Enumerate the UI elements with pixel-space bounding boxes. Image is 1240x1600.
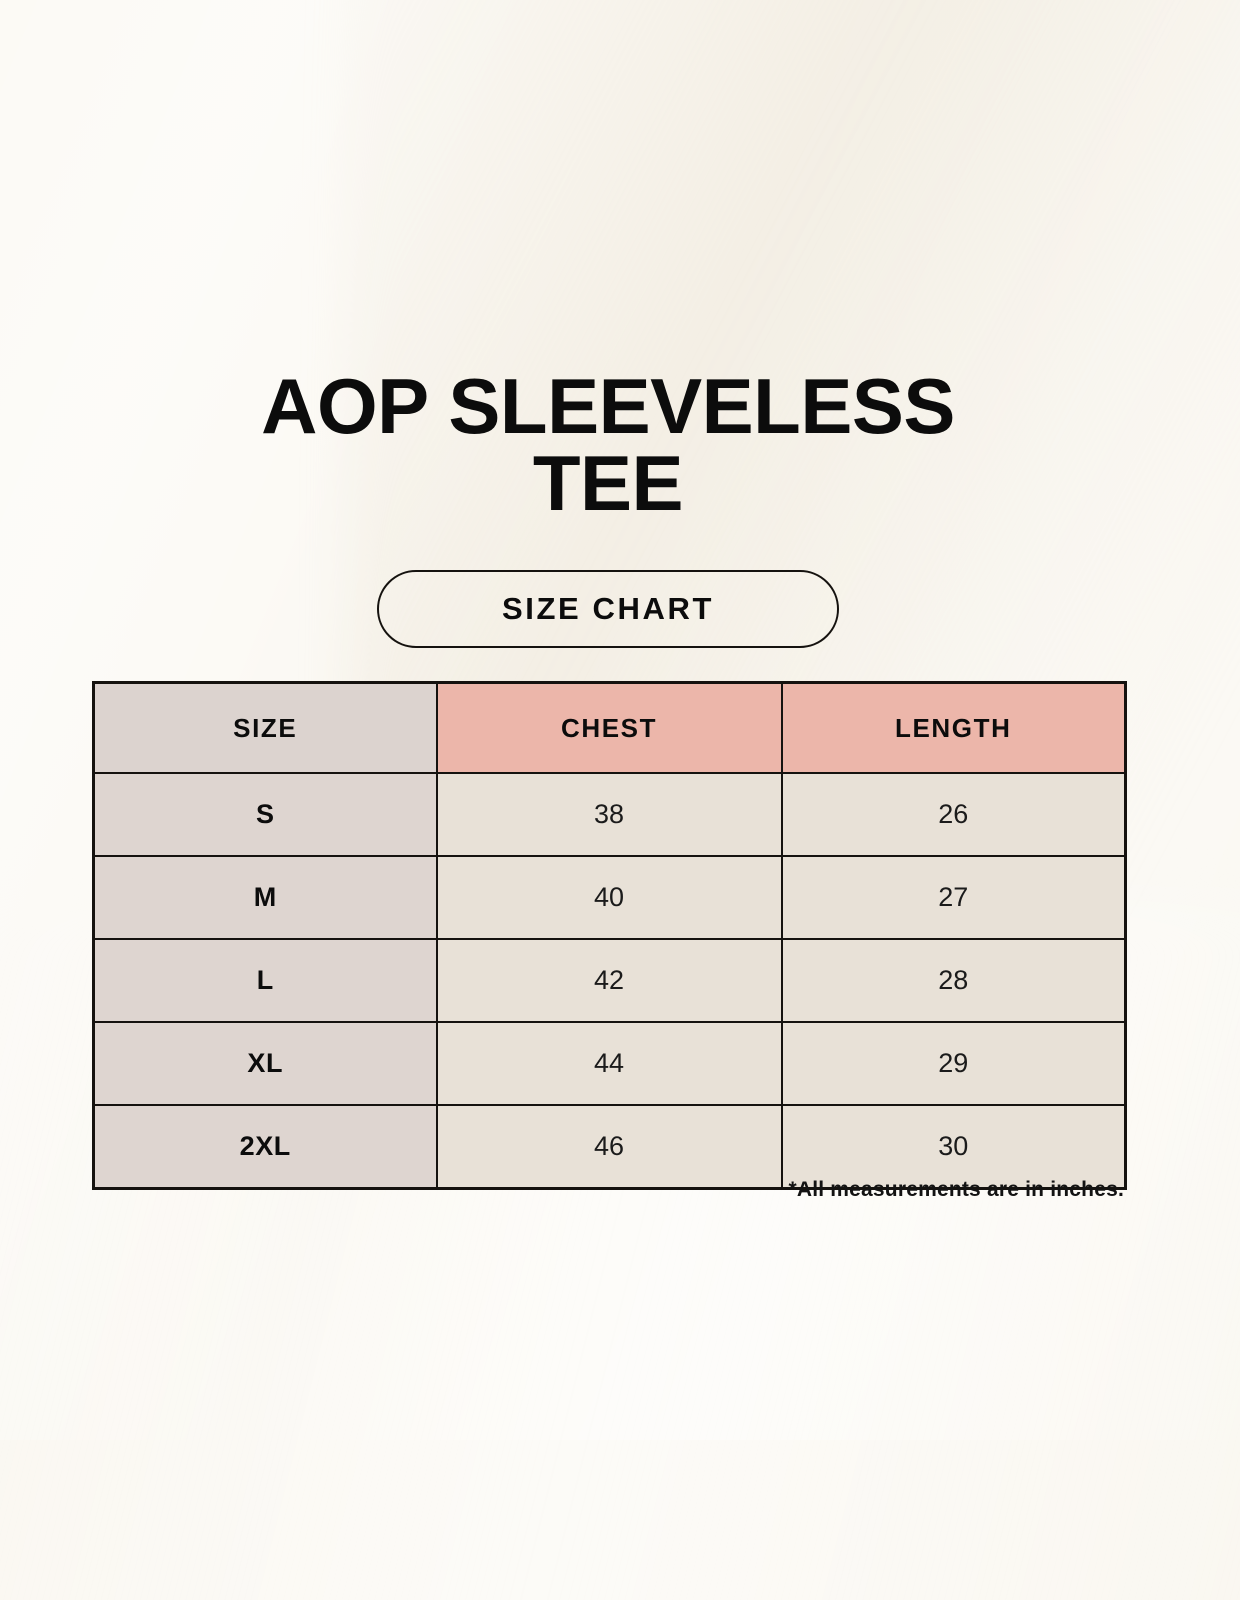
table-header: SIZE CHEST LENGTH (94, 683, 1126, 774)
table-row: M 40 27 (94, 856, 1126, 939)
badge-row: SIZE CHART (92, 570, 1124, 648)
cell-size: XL (94, 1022, 437, 1105)
table-row: 2XL 46 30 (94, 1105, 1126, 1189)
cell-chest: 44 (437, 1022, 782, 1105)
measurements-note: *All measurements are in inches. (92, 1178, 1124, 1202)
size-chart-badge: SIZE CHART (377, 570, 839, 648)
cell-size: M (94, 856, 437, 939)
cell-size: 2XL (94, 1105, 437, 1189)
table-row: S 38 26 (94, 773, 1126, 856)
cell-length: 28 (782, 939, 1126, 1022)
table-row: XL 44 29 (94, 1022, 1126, 1105)
cell-chest: 38 (437, 773, 782, 856)
page-title: AOP SLEEVELESS TEE (92, 368, 1124, 522)
table-row: L 42 28 (94, 939, 1126, 1022)
cell-length: 30 (782, 1105, 1126, 1189)
size-chart-canvas: AOP SLEEVELESS TEE SIZE CHART SIZE CHEST… (0, 0, 1240, 1600)
cell-length: 29 (782, 1022, 1126, 1105)
column-header-length: LENGTH (782, 683, 1126, 774)
cell-chest: 46 (437, 1105, 782, 1189)
cell-size: L (94, 939, 437, 1022)
table-body: S 38 26 M 40 27 L 42 28 XL 44 29 (94, 773, 1126, 1189)
column-header-size: SIZE (94, 683, 437, 774)
cell-length: 27 (782, 856, 1126, 939)
cell-length: 26 (782, 773, 1126, 856)
content-layer: AOP SLEEVELESS TEE SIZE CHART SIZE CHEST… (0, 0, 1240, 1600)
column-header-chest: CHEST (437, 683, 782, 774)
cell-chest: 42 (437, 939, 782, 1022)
cell-chest: 40 (437, 856, 782, 939)
table-header-row: SIZE CHEST LENGTH (94, 683, 1126, 774)
size-chart-table: SIZE CHEST LENGTH S 38 26 M 40 27 L (92, 681, 1127, 1190)
cell-size: S (94, 773, 437, 856)
